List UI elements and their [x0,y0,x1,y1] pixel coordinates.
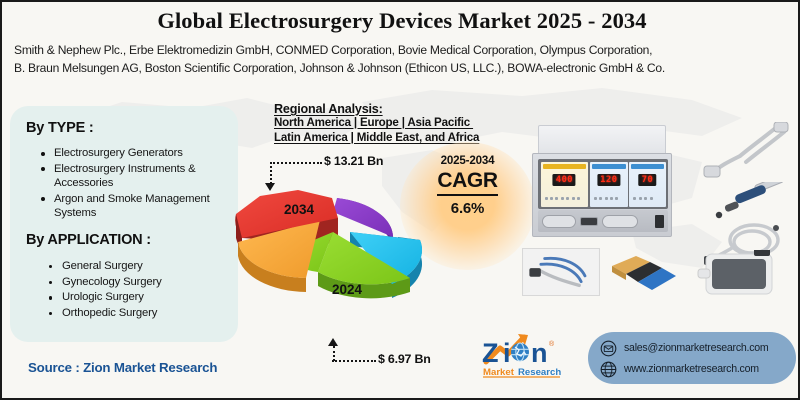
contact-pill: sales@zionmarketresearch.com www.zionmar… [588,332,796,384]
svg-text:i: i [503,338,511,368]
company-list-line-2: B. Braun Melsungen AG, Boston Scientific… [14,60,790,78]
panel-buttons [632,188,662,204]
generator-port [602,215,638,228]
value-label-2034: $ 13.21 Bn [324,154,383,168]
value-label-2024: $ 6.97 Bn [378,352,431,366]
by-type-heading: By TYPE : [26,120,94,136]
panel-strip [631,164,663,169]
callout-arrow-2024 [328,338,338,346]
panel-buttons [544,188,586,204]
generator-top-shell [538,125,666,155]
regional-analysis-line-2: Latin America | Middle East, and Africa [274,131,479,146]
power-switch-icon [655,215,664,228]
callout-line-2034 [270,162,322,164]
list-item: General Surgery [48,259,234,274]
company-list-line-1: Smith & Nephew Plc., Erbe Elektromedizin… [14,42,790,60]
callout-line-2024 [332,360,376,362]
by-application-list: General Surgery Gynecology Surgery Urolo… [48,259,234,321]
generator-panel-column-cut: 400 [541,162,589,207]
foot-pedal-image [610,250,682,294]
svg-text:Z: Z [482,338,499,368]
pie-slice-label-2024: 2024 [332,282,363,297]
generator-display-3: 70 [639,174,656,186]
by-application-heading: By APPLICATION : [26,232,151,248]
regional-analysis-heading: Regional Analysis: [274,102,383,116]
list-item: Orthopedic Surgery [48,306,234,321]
generator-port [542,215,576,228]
electrosurgery-generator-image: 400 120 70 [532,125,672,237]
svg-text:®: ® [549,340,555,348]
generator-display-2: 120 [597,174,620,186]
generator-port [580,217,598,226]
envelope-icon [600,340,617,357]
zion-logo: Z i n ® Market Research [480,332,566,380]
grounding-pad-image [696,250,776,298]
generator-panel-column-coag: 120 [590,162,628,207]
by-type-list: Electrosurgery Generators Electrosurgery… [40,146,232,222]
regional-analysis: Regional Analysis: North America | Europ… [274,102,479,145]
list-item: Electrosurgery Generators [40,146,232,161]
product-images: 400 120 70 [514,120,800,335]
pie-chart: 2034 2024 [220,152,450,367]
generator-body: 400 120 70 [532,153,672,237]
panel-strip [592,164,626,169]
callout-stem-2034 [270,162,272,184]
page-title: Global Electrosurgery Devices Market 202… [2,8,800,34]
power-cable-image [696,122,792,184]
electrosurgical-pencil-image [710,182,796,222]
generator-display-1: 400 [553,174,576,186]
infographic-canvas: Global Electrosurgery Devices Market 202… [0,0,800,400]
globe-icon [600,361,617,378]
panel-strip [543,164,587,169]
callout-stem-2024 [333,346,335,361]
pie-slice-label-2034: 2034 [284,202,315,217]
list-item: Urologic Surgery [48,290,234,305]
company-list: Smith & Nephew Plc., Erbe Elektromedizin… [14,42,790,77]
list-item: Electrosurgery Instruments & Accessories [40,162,232,191]
contact-website: www.zionmarketresearch.com [624,363,759,375]
generator-port-row [538,210,668,232]
source-label: Source : Zion Market Research [28,360,217,375]
contact-website-row[interactable]: www.zionmarketresearch.com [600,359,796,379]
generator-panel-column-bipolar: 70 [629,162,665,207]
list-item: Argon and Smoke Management Systems [40,192,232,221]
svg-text:n: n [531,338,548,368]
contact-email-row[interactable]: sales@zionmarketresearch.com [600,338,796,358]
generator-control-panel: 400 120 70 [538,159,668,209]
callout-arrow-2034 [265,183,275,191]
regional-analysis-line-1: North America | Europe | Asia Pacific [274,116,479,131]
panel-buttons [593,188,625,204]
packaged-cable-image [522,248,600,296]
list-item: Gynecology Surgery [48,275,234,290]
segmentation-panel: By TYPE : Electrosurgery Generators Elec… [10,106,238,342]
contact-email: sales@zionmarketresearch.com [624,342,768,354]
